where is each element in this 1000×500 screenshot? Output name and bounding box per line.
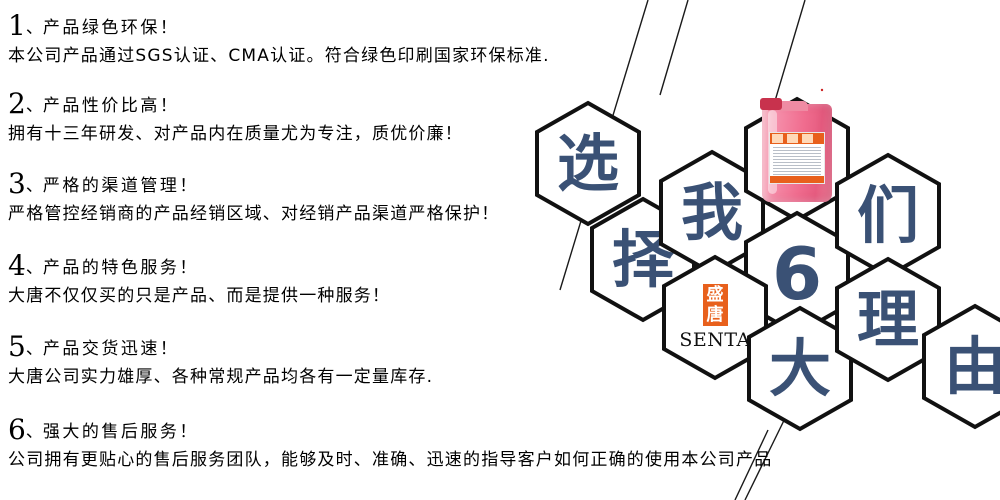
hex-cell-you: 由 (920, 303, 1000, 430)
reason-heading-1: 1、产品绿色环保！ (8, 12, 708, 40)
reason-item-3: 3、严格的渠道管理！ 严格管控经销商的产品经销区域、对经销产品渠道严格保护！ (8, 170, 708, 224)
jerrycan-label (769, 132, 825, 184)
hex-label-you: 由 (920, 303, 1000, 430)
hex-label-da: 大 (745, 305, 855, 432)
reason-heading-3: 3、严格的渠道管理！ (8, 170, 708, 198)
jerrycan-label-text-lines (770, 144, 824, 175)
reason-separator-4: 、 (26, 258, 43, 278)
reason-number-1: 1 (8, 9, 26, 42)
jerrycan-label-header (770, 133, 824, 144)
jerrycan-highlight (768, 110, 777, 194)
product-jerrycan-image (762, 104, 832, 202)
hex-cell-da: 大 (745, 305, 855, 432)
reason-number-5: 5 (8, 330, 26, 363)
hex-label-men: 们 (833, 152, 943, 279)
reason-separator-6: 、 (26, 422, 43, 442)
reason-separator-5: 、 (26, 339, 43, 359)
hex-cell-product-photo (742, 96, 852, 223)
reason-item-1: 1、产品绿色环保！ 本公司产品通过SGS认证、CMA认证。符合绿色印刷国家环保标… (8, 12, 708, 66)
reason-body-2: 拥有十三年研发、对产品内在质量尤为专注，质优价廉！ (8, 125, 708, 144)
reason-number-3: 3 (8, 167, 26, 200)
jerrycan-handle (768, 101, 808, 111)
reason-separator-1: 、 (26, 18, 43, 38)
reason-heading-6: 6、强大的售后服务！ (8, 416, 708, 444)
reason-item-5: 5、产品交货迅速！ 大唐公司实力雄厚、各种常规产品均各有一定量库存. (8, 333, 708, 387)
hex-cell-men: 们 (833, 152, 943, 279)
reason-item-6: 6、强大的售后服务！ 公司拥有更贴心的售后服务团队，能够及时、准确、迅速的指导客… (8, 416, 708, 470)
jerrycan-label-footer (770, 176, 824, 183)
reason-title-2: 产品性价比高！ (43, 96, 180, 116)
reason-body-6: 公司拥有更贴心的售后服务团队，能够及时、准确、迅速的指导客户如何正确的使用本公司… (8, 451, 708, 470)
reason-title-5: 产品交货迅速！ (43, 339, 180, 359)
reason-body-5: 大唐公司实力雄厚、各种常规产品均各有一定量库存. (8, 368, 708, 387)
reason-heading-5: 5、产品交货迅速！ (8, 333, 708, 361)
hex-label-li: 理 (833, 256, 943, 383)
reason-number-2: 2 (8, 87, 26, 120)
reason-title-1: 产品绿色环保！ (43, 18, 180, 38)
reason-title-6: 强大的售后服务！ (43, 422, 199, 442)
reason-heading-4: 4、产品的特色服务！ (8, 252, 708, 280)
reason-title-3: 严格的渠道管理！ (43, 176, 199, 196)
reason-title-4: 产品的特色服务！ (43, 258, 199, 278)
reason-item-4: 4、产品的特色服务！ 大唐不仅仅买的只是产品、而是提供一种服务！ (8, 252, 708, 306)
reason-body-4: 大唐不仅仅买的只是产品、而是提供一种服务！ (8, 287, 708, 306)
jerrycan-cap (760, 98, 782, 110)
hex-label-six: 6 (742, 210, 852, 337)
reason-body-1: 本公司产品通过SGS认证、CMA认证。符合绿色印刷国家环保标准. (8, 47, 708, 66)
reason-number-4: 4 (8, 249, 26, 282)
reason-number-6: 6 (8, 413, 26, 446)
hex-cell-li: 理 (833, 256, 943, 383)
promo-banner: 选 择 我 (0, 0, 1000, 500)
reason-heading-2: 2、产品性价比高！ (8, 90, 708, 118)
reason-item-2: 2、产品性价比高！ 拥有十三年研发、对产品内在质量尤为专注，质优价廉！ (8, 90, 708, 144)
reason-separator-2: 、 (26, 96, 43, 116)
brand-logo-char-bottom: 唐 (703, 305, 728, 325)
reason-separator-3: 、 (26, 176, 43, 196)
hex-cell-six: 6 (742, 210, 852, 337)
reason-body-3: 严格管控经销商的产品经销区域、对经销产品渠道严格保护！ (8, 205, 708, 224)
